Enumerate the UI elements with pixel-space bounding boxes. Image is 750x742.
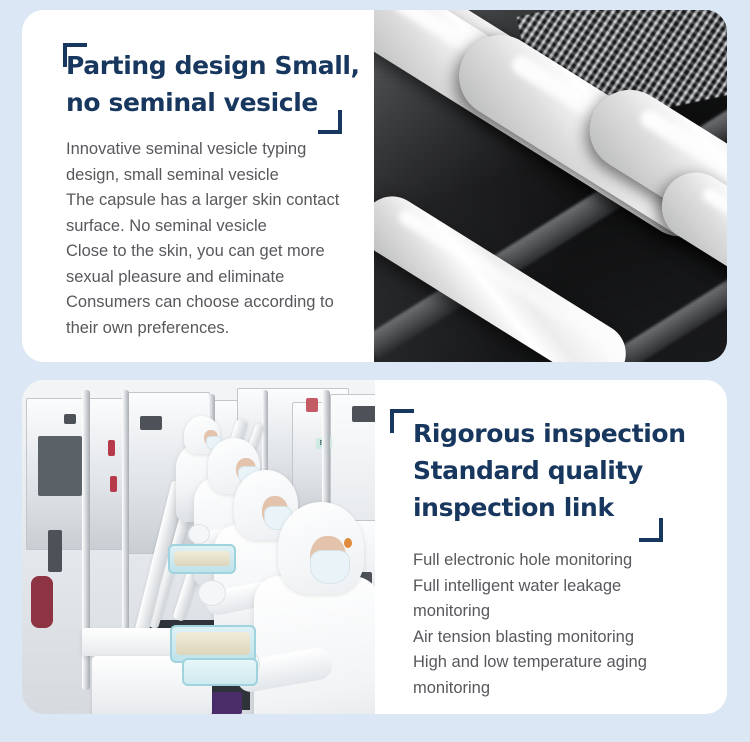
body-line: Consumers can choose according to: [66, 290, 366, 316]
rigorous-inspection-text-pane: Rigorous inspection Standard quality ins…: [375, 380, 727, 714]
heading-line: inspection link: [413, 489, 719, 526]
body-line: monitoring: [413, 676, 719, 702]
worker-coat: [254, 576, 375, 714]
worker-mask: [310, 550, 350, 584]
heading-line: Rigorous inspection: [413, 415, 719, 452]
machine-window: [48, 530, 62, 572]
body-line: design, small seminal vesicle: [66, 163, 366, 189]
body-line: monitoring: [413, 599, 719, 625]
product-bin: [168, 544, 236, 574]
machine-window: [352, 406, 375, 422]
body-line: Innovative seminal vesicle typing: [66, 137, 366, 163]
heading-line: no seminal vesicle: [66, 84, 366, 121]
body-line: The capsule has a larger skin contact: [66, 188, 366, 214]
parting-design-body: Innovative seminal vesicle typing design…: [60, 121, 366, 341]
body-line: Full electronic hole monitoring: [413, 548, 719, 574]
status-indicator: [108, 440, 115, 456]
frame-post: [122, 390, 129, 630]
condom-formers-photo: [374, 10, 727, 362]
rigorous-inspection-heading: Rigorous inspection Standard quality ins…: [405, 406, 719, 526]
heading-line: Parting design Small,: [66, 47, 366, 84]
worker-glove: [188, 524, 210, 544]
body-line: Close to the skin, you can get more: [66, 239, 366, 265]
rigorous-inspection-body: Full electronic hole monitoring Full int…: [405, 526, 719, 701]
feature-card-rigorous-inspection: ET ET: [22, 380, 727, 714]
red-tubing: [31, 576, 53, 628]
status-indicator: [306, 398, 318, 412]
factory-cleanroom-photo: ET ET: [22, 380, 375, 714]
bin-contents: [176, 632, 250, 655]
worker-glove: [198, 580, 226, 606]
heading-line: Standard quality: [413, 452, 719, 489]
body-line: Full intelligent water leakage: [413, 574, 719, 600]
body-line: High and low temperature aging: [413, 650, 719, 676]
ear-accent: [344, 538, 352, 548]
parting-design-text-pane: Parting design Small, no seminal vesicle…: [22, 10, 374, 362]
product-bin: [182, 658, 258, 686]
product-feature-page: Parting design Small, no seminal vesicle…: [0, 0, 750, 742]
machine-window: [64, 414, 76, 424]
machine-window: [140, 416, 162, 430]
body-line: sexual pleasure and eliminate: [66, 265, 366, 291]
floor-object: [62, 710, 82, 714]
parting-design-heading: Parting design Small, no seminal vesicle: [60, 40, 366, 121]
body-line: Air tension blasting monitoring: [413, 625, 719, 651]
photo-grain-overlay: [374, 10, 727, 362]
body-line: surface. No seminal vesicle: [66, 214, 366, 240]
feature-card-parting-design: Parting design Small, no seminal vesicle…: [22, 10, 727, 362]
bin-contents: [174, 551, 230, 566]
machine-window: [38, 436, 82, 496]
body-line: their own preferences.: [66, 316, 366, 342]
status-indicator: [110, 476, 117, 492]
